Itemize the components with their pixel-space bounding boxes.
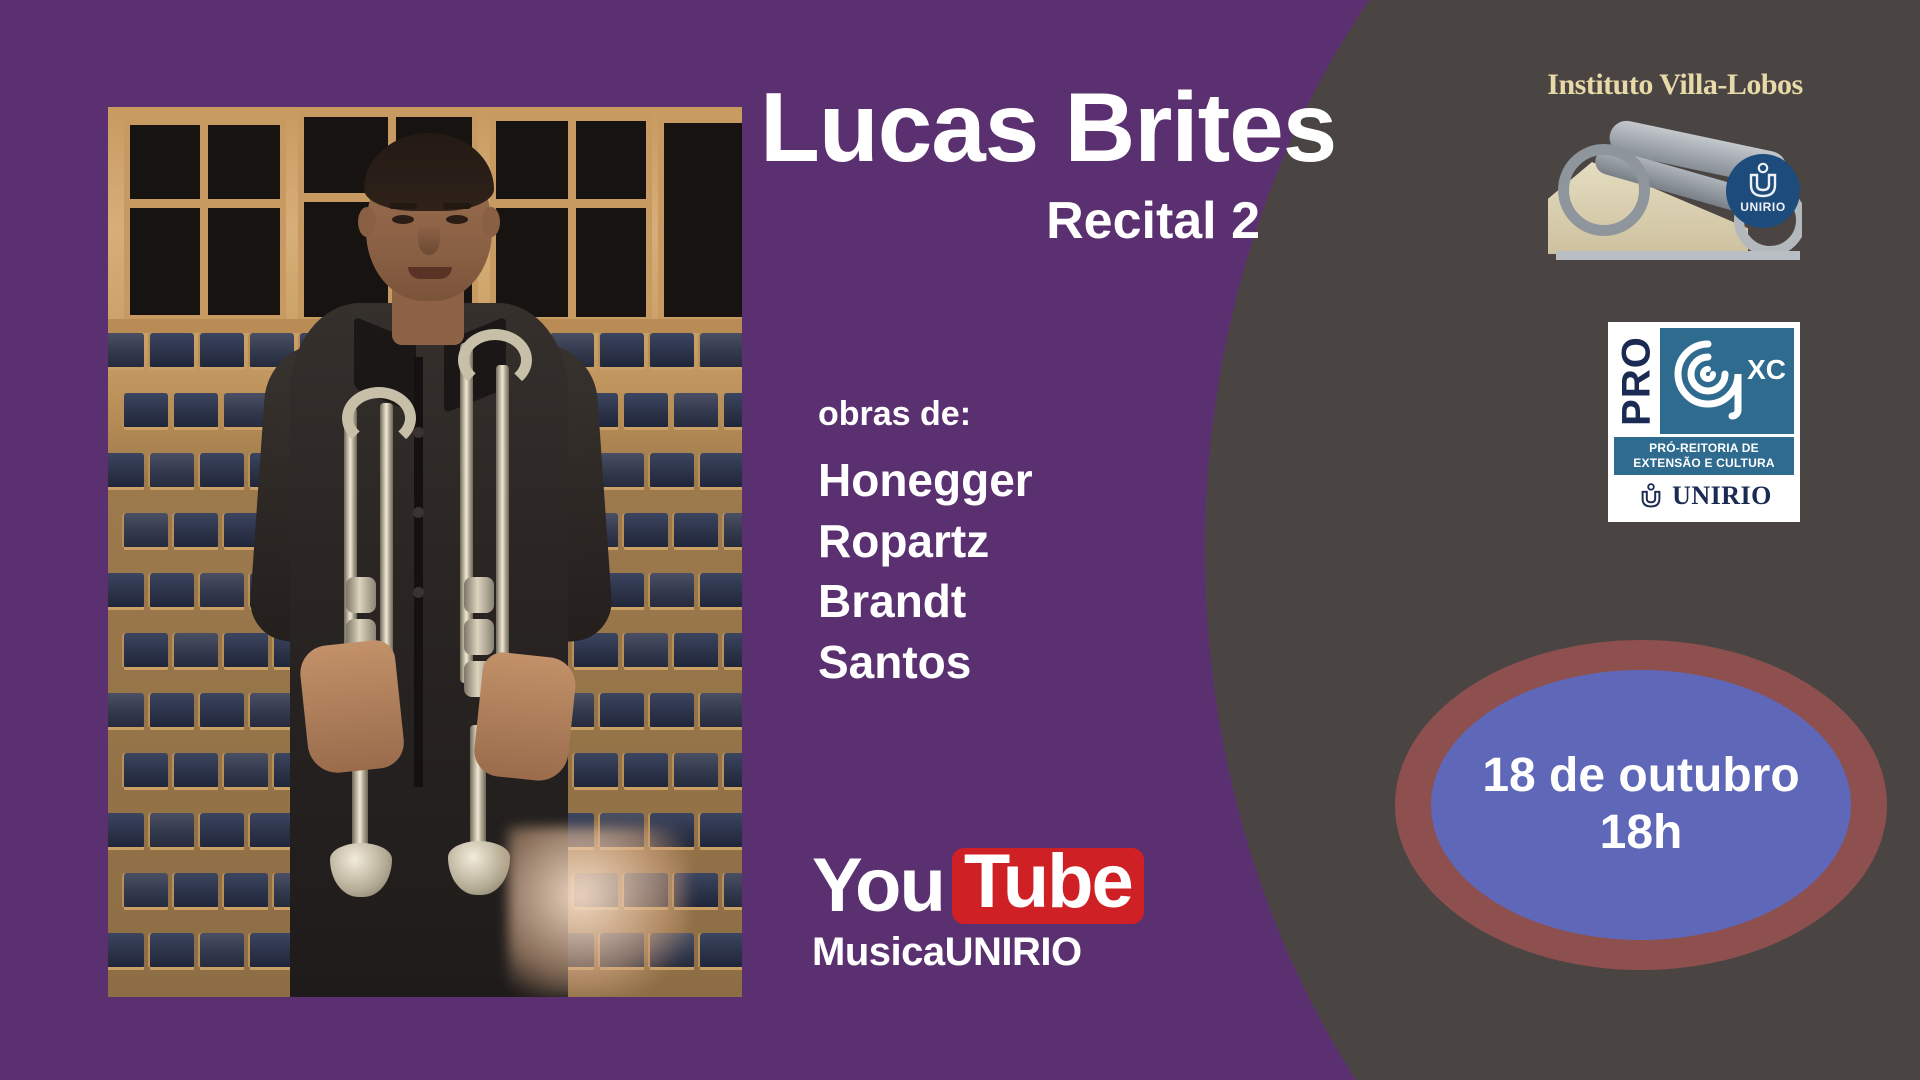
proexc-subtitle-bar: PRÓ-REITORIA DE EXTENSÃO E CULTURA bbox=[1614, 437, 1794, 475]
date-text: 18 de outubro bbox=[1482, 748, 1799, 805]
wall-bay bbox=[664, 123, 742, 317]
performer-nose bbox=[418, 225, 440, 255]
shirt-button bbox=[413, 427, 424, 438]
youtube-block[interactable]: You Tube MusicaUNIRIO bbox=[812, 848, 1144, 975]
performer-hand-left bbox=[298, 638, 407, 775]
time-text: 18h bbox=[1600, 805, 1683, 862]
proexc-subtitle-line2: EXTENSÃO E CULTURA bbox=[1616, 456, 1792, 471]
page-title: Lucas Brites bbox=[760, 78, 1460, 176]
foreground-blur bbox=[508, 827, 688, 997]
recital-subtitle: Recital 2 bbox=[760, 195, 1260, 247]
performer-photo bbox=[108, 107, 742, 997]
performer-mouth bbox=[408, 267, 452, 279]
composer-list: Honegger Ropartz Brandt Santos bbox=[818, 450, 1033, 693]
wall-mullion bbox=[200, 125, 208, 315]
composer-item: Ropartz bbox=[818, 511, 1033, 572]
date-badge: 18 de outubro 18h bbox=[1395, 640, 1887, 970]
shirt-button bbox=[413, 507, 424, 518]
composer-item: Santos bbox=[818, 632, 1033, 693]
proexc-pro-text-vertical: PRO bbox=[1614, 328, 1660, 434]
composer-item: Honegger bbox=[818, 450, 1033, 511]
youtube-channel-name: MusicaUNIRIO bbox=[812, 930, 1144, 975]
performer-eyebrow-left bbox=[389, 203, 417, 209]
composer-item: Brandt bbox=[818, 571, 1033, 632]
wall-mullion bbox=[568, 121, 576, 317]
performer-eye-right bbox=[446, 215, 468, 224]
performer-ear-right bbox=[482, 207, 500, 237]
performer-ear-left bbox=[358, 207, 376, 237]
spiral-icon bbox=[1672, 338, 1746, 424]
proexc-subtitle-line1: PRÓ-REITORIA DE bbox=[1616, 441, 1792, 456]
poster-canvas: Lucas Brites Recital 2 obras de: Honegge… bbox=[0, 0, 1920, 1080]
youtube-tube-badge: Tube bbox=[952, 848, 1144, 924]
unirio-trident-icon bbox=[1636, 482, 1666, 510]
unirio-trident-icon bbox=[1743, 161, 1783, 201]
performer-eye-left bbox=[392, 215, 414, 224]
shirt-button bbox=[413, 587, 424, 598]
youtube-logo[interactable]: You Tube bbox=[812, 848, 1144, 924]
date-badge-inner: 18 de outubro 18h bbox=[1431, 670, 1851, 940]
youtube-you-text: You bbox=[812, 852, 944, 920]
unirio-seal-icon: UNIRIO bbox=[1726, 154, 1800, 228]
unirio-seal-label: UNIRIO bbox=[1740, 200, 1786, 214]
capital-scroll-illustration: UNIRIO bbox=[1548, 110, 1802, 260]
proexc-logo: PRO XC PRÓ-REITORIA DE EXTENSÃO E CULTUR… bbox=[1608, 322, 1800, 522]
performer-eyebrow-right bbox=[443, 203, 471, 209]
performer-hand-right bbox=[472, 650, 578, 783]
instituto-title: Instituto Villa-Lobos bbox=[1540, 68, 1810, 102]
instituto-villa-lobos-logo: Instituto Villa-Lobos UNIRIO bbox=[1540, 68, 1810, 268]
program-label: obras de: bbox=[818, 395, 971, 434]
proexc-xc-text: XC bbox=[1747, 354, 1786, 386]
proexc-blue-square: XC bbox=[1660, 328, 1794, 434]
proexc-unirio-text: UNIRIO bbox=[1672, 481, 1772, 511]
